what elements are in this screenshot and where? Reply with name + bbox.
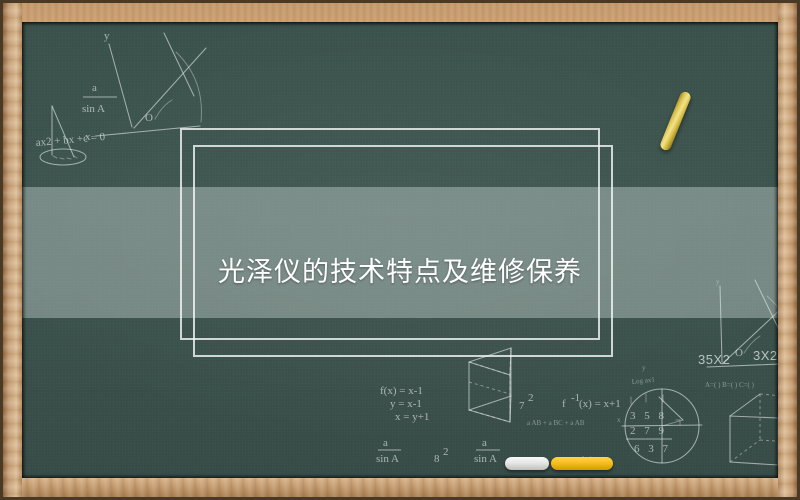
fraction3-denominator: sin A (474, 453, 497, 465)
function-line-3: x = y+1 (395, 411, 429, 423)
label-3x2: 3X2 (753, 348, 778, 363)
frame-rail-top (3, 3, 797, 22)
fraction-a-over-sina-middle: a sin A (474, 437, 500, 465)
matrix-notation-text: A=( ) B=( ) C=( ) (705, 381, 755, 389)
seven-base: 7 (519, 400, 525, 412)
circle-axis-label-x: x (617, 416, 621, 424)
inverse-function-group: f -1 (x) = x+1 (562, 392, 621, 410)
chalk-stick-yellow-ledge (551, 457, 613, 470)
function-equations-group: f(x) = x-1 y = x-1 x = y+1 (380, 385, 429, 423)
axis-label-x-topleft: x (85, 131, 91, 143)
seven-squared-group: 7 2 (519, 392, 534, 412)
fraction3-numerator: a (482, 437, 487, 449)
quadratic-equation-text: ax2 + bx +c = 0 (35, 131, 106, 149)
cube-drawing-right (730, 394, 778, 465)
angle-label-topright: O (735, 347, 743, 359)
eight-squared-group: 8 2 (434, 446, 449, 465)
fraction2-numerator: a (383, 437, 388, 449)
chalk-stick-white-ledge (505, 457, 549, 470)
frame-rail-left (3, 3, 22, 497)
angle-diagram-topleft: y x O (85, 30, 206, 143)
label-35x2: 35X2 (698, 352, 730, 367)
division-row-3: 6 3 7 (634, 443, 671, 455)
chalkboard-banner-image: a sin A ax2 + bx +c = 0 y x O (0, 0, 800, 500)
inverse-function-rest: (x) = x+1 (579, 398, 621, 410)
cube-drawing-left (469, 348, 511, 422)
fraction2-denominator: sin A (376, 453, 399, 465)
fraction-numerator-a: a (92, 82, 97, 94)
frame-rail-bottom (3, 478, 797, 497)
division-row-1: 3 5 8 (630, 410, 667, 422)
seven-exponent: 2 (528, 392, 534, 404)
function-line-2: y = x-1 (390, 398, 422, 410)
axis-label-y-topleft: y (104, 30, 110, 42)
frame-rail-right (778, 3, 797, 497)
fraction-denominator-sina: sin A (82, 103, 105, 115)
function-line-1: f(x) = x-1 (380, 385, 423, 397)
eight-exponent: 2 (443, 446, 449, 458)
circle-axis-label-y: y (642, 364, 646, 372)
eight-base: 8 (434, 453, 440, 465)
chalkboard-surface: a sin A ax2 + bx +c = 0 y x O (22, 22, 778, 478)
page-title: 光泽仪的技术特点及维修保养 (22, 250, 778, 289)
log-label-text: Log ax1 (631, 376, 655, 386)
angle-label-topleft: O (145, 112, 153, 124)
inverse-function-f: f (562, 398, 566, 410)
tiny-equation-text: a AB + a BC + a AB (527, 419, 585, 427)
division-row-2: 2 7 9 (630, 425, 667, 437)
fraction-a-over-sina-topleft: a sin A (82, 82, 117, 115)
fraction-a-over-sina-bottomleft: a sin A (376, 437, 401, 465)
